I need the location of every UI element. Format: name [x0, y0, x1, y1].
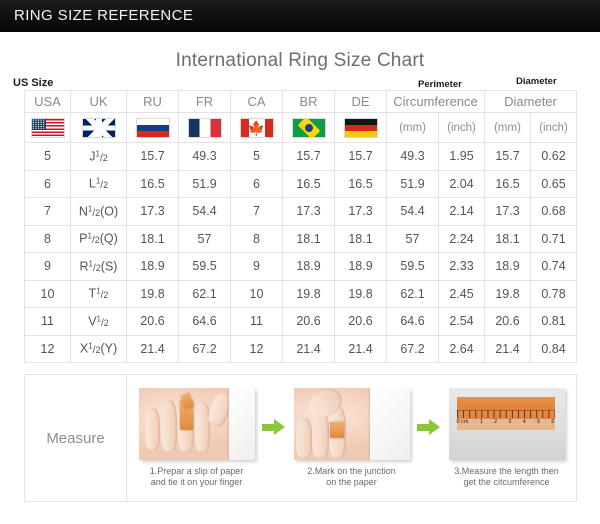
perimeter-label: Perimeter [418, 79, 462, 90]
cell-ru: 18.9 [127, 253, 179, 281]
column-header-cmm: Circumference [387, 91, 485, 113]
cell-cmm: 62.1 [387, 280, 439, 308]
cell-cin: 2.24 [439, 225, 485, 253]
top-banner: RING SIZE REFERENCE [0, 0, 600, 32]
cell-ru: 18.1 [127, 225, 179, 253]
table-row: 11V1/220.664.61120.620.664.62.5420.60.81 [25, 308, 577, 336]
flag-cell-de [335, 113, 387, 143]
cell-din: 0.65 [531, 170, 577, 198]
cell-din: 0.71 [531, 225, 577, 253]
cell-usa: 6 [25, 170, 71, 198]
table-row: 7N1/2(O)17.354.4717.317.354.42.1417.30.6… [25, 198, 577, 226]
step-1-photo [139, 388, 255, 460]
flag-cell-ca: 🍁 [231, 113, 283, 143]
cell-dmm: 16.5 [485, 170, 531, 198]
page-title: International Ring Size Chart [0, 50, 600, 72]
step-3-photo: 0 cm123456 [449, 388, 565, 460]
cell-cmm: 49.3 [387, 143, 439, 171]
cell-ru: 19.8 [127, 280, 179, 308]
cell-cin: 2.54 [439, 308, 485, 336]
ring-size-reference-page: RING SIZE REFERENCE International Ring S… [0, 0, 600, 524]
measure-step-3: 0 cm123456 3.Measure the length then get… [443, 388, 571, 489]
cell-din: 0.68 [531, 198, 577, 226]
table-row: 12X1/2(Y)21.467.21221.421.467.22.6421.40… [25, 335, 577, 363]
cell-br: 17.3 [283, 198, 335, 226]
cell-fr: 59.5 [179, 253, 231, 281]
cell-cmm: 59.5 [387, 253, 439, 281]
ruler-mark: 1 [480, 419, 483, 425]
ruler-scale: 0 cm123456 [457, 419, 555, 425]
cell-br: 21.4 [283, 335, 335, 363]
column-header-de: DE [335, 91, 387, 113]
cell-cmm: 67.2 [387, 335, 439, 363]
measure-steps: 1.Prepar a slip of paper and tie it on y… [127, 375, 576, 501]
unit-cell-din: (inch) [531, 113, 577, 143]
cell-dmm: 19.8 [485, 280, 531, 308]
cell-usa: 12 [25, 335, 71, 363]
cell-de: 18.1 [335, 225, 387, 253]
ruler-mark: 0 cm [457, 419, 469, 425]
cell-br: 19.8 [283, 280, 335, 308]
cell-ru: 21.4 [127, 335, 179, 363]
cell-cmm: 54.4 [387, 198, 439, 226]
unit-cell-dmm: (mm) [485, 113, 531, 143]
flag-cell-br [283, 113, 335, 143]
cell-ca: 9 [231, 253, 283, 281]
flag-cell-uk [71, 113, 127, 143]
cell-cmm: 64.6 [387, 308, 439, 336]
cell-de: 16.5 [335, 170, 387, 198]
cell-ca: 12 [231, 335, 283, 363]
step-3-caption: 3.Measure the length then get the citcum… [454, 466, 559, 489]
table-header-row: USAUKRUFRCABRDECircumferenceDiameter [25, 91, 577, 113]
usa-flag-icon [31, 118, 65, 138]
cell-de: 20.6 [335, 308, 387, 336]
fr-flag-icon [188, 118, 222, 138]
cell-ca: 11 [231, 308, 283, 336]
diameter-label: Diameter [516, 76, 557, 87]
cell-de: 18.9 [335, 253, 387, 281]
cell-din: 0.78 [531, 280, 577, 308]
cell-cin: 2.33 [439, 253, 485, 281]
cell-din: 0.62 [531, 143, 577, 171]
cell-dmm: 20.6 [485, 308, 531, 336]
cell-uk: P1/2(Q) [71, 225, 127, 253]
measure-steps-cell: 1.Prepar a slip of paper and tie it on y… [127, 375, 577, 502]
ruler-mark: 6 [551, 419, 554, 425]
measure-panel: Measure [24, 374, 576, 502]
cell-uk: X1/2(Y) [71, 335, 127, 363]
cell-cin: 2.04 [439, 170, 485, 198]
ruler-mark: 5 [537, 419, 540, 425]
cell-usa: 7 [25, 198, 71, 226]
unit-cell-cin: (inch) [439, 113, 485, 143]
cell-usa: 9 [25, 253, 71, 281]
cell-din: 0.81 [531, 308, 577, 336]
flag-cell-ru [127, 113, 179, 143]
cell-din: 0.74 [531, 253, 577, 281]
column-header-uk: UK [71, 91, 127, 113]
cell-de: 19.8 [335, 280, 387, 308]
table-row: 5J1/215.749.3515.715.749.31.9515.70.62 [25, 143, 577, 171]
de-flag-icon [344, 118, 378, 138]
cell-fr: 64.6 [179, 308, 231, 336]
column-header-fr: FR [179, 91, 231, 113]
cell-din: 0.84 [531, 335, 577, 363]
column-header-ca: CA [231, 91, 283, 113]
column-header-ru: RU [127, 91, 179, 113]
cell-uk: L1/2 [71, 170, 127, 198]
measure-label-cell: Measure [25, 375, 127, 502]
size-table-wrap: USAUKRUFRCABRDECircumferenceDiameter🍁(mm… [24, 90, 576, 363]
measure-table: Measure [24, 374, 577, 502]
cell-usa: 5 [25, 143, 71, 171]
cell-uk: N1/2(O) [71, 198, 127, 226]
cell-dmm: 21.4 [485, 335, 531, 363]
cell-usa: 10 [25, 280, 71, 308]
table-row: 6L1/216.551.9616.516.551.92.0416.50.65 [25, 170, 577, 198]
cell-dmm: 15.7 [485, 143, 531, 171]
cell-fr: 57 [179, 225, 231, 253]
uk-flag-icon [82, 118, 116, 138]
ru-flag-icon [136, 118, 170, 138]
cell-dmm: 17.3 [485, 198, 531, 226]
column-header-br: BR [283, 91, 335, 113]
cell-usa: 8 [25, 225, 71, 253]
table-flag-row: 🍁(mm)(inch)(mm)(inch) [25, 113, 577, 143]
cell-ru: 17.3 [127, 198, 179, 226]
flag-cell-usa [25, 113, 71, 143]
cell-de: 21.4 [335, 335, 387, 363]
cell-ru: 15.7 [127, 143, 179, 171]
cell-br: 18.9 [283, 253, 335, 281]
banner-title: RING SIZE REFERENCE [14, 7, 193, 24]
cell-ca: 10 [231, 280, 283, 308]
unit-cell-cmm: (mm) [387, 113, 439, 143]
cell-cmm: 51.9 [387, 170, 439, 198]
measure-step-1: 1.Prepar a slip of paper and tie it on y… [133, 388, 261, 489]
cell-uk: R1/2(S) [71, 253, 127, 281]
cell-ca: 7 [231, 198, 283, 226]
cell-br: 18.1 [283, 225, 335, 253]
cell-uk: V1/2 [71, 308, 127, 336]
step-2-photo [294, 388, 410, 460]
cell-usa: 11 [25, 308, 71, 336]
cell-de: 17.3 [335, 198, 387, 226]
cell-cin: 2.45 [439, 280, 485, 308]
br-flag-icon [292, 118, 326, 138]
cell-dmm: 18.9 [485, 253, 531, 281]
cell-br: 15.7 [283, 143, 335, 171]
cell-cmm: 57 [387, 225, 439, 253]
cell-cin: 2.14 [439, 198, 485, 226]
measure-step-2: 2.Mark on the junction on the paper [288, 388, 416, 489]
cell-fr: 62.1 [179, 280, 231, 308]
step-2-caption: 2.Mark on the junction on the paper [307, 466, 396, 489]
cell-de: 15.7 [335, 143, 387, 171]
cell-fr: 67.2 [179, 335, 231, 363]
cell-br: 16.5 [283, 170, 335, 198]
cell-uk: T1/2 [71, 280, 127, 308]
ruler-mark: 2 [494, 419, 497, 425]
cell-ca: 8 [231, 225, 283, 253]
cell-ca: 6 [231, 170, 283, 198]
cell-ru: 20.6 [127, 308, 179, 336]
cell-br: 20.6 [283, 308, 335, 336]
ruler-mark: 4 [523, 419, 526, 425]
cell-ca: 5 [231, 143, 283, 171]
cell-fr: 49.3 [179, 143, 231, 171]
arrow-right-icon-1 [262, 419, 286, 435]
ca-flag-icon: 🍁 [240, 118, 274, 138]
table-row: 10T1/219.862.11019.819.862.12.4519.80.78 [25, 280, 577, 308]
column-header-usa: USA [25, 91, 71, 113]
ring-size-table: USAUKRUFRCABRDECircumferenceDiameter🍁(mm… [24, 90, 577, 363]
cell-cin: 2.64 [439, 335, 485, 363]
column-header-dmm: Diameter [485, 91, 577, 113]
arrow-right-icon-2 [417, 419, 441, 435]
cell-fr: 51.9 [179, 170, 231, 198]
table-row: 8P1/2(Q)18.157818.118.1572.2418.10.71 [25, 225, 577, 253]
flag-cell-fr [179, 113, 231, 143]
cell-fr: 54.4 [179, 198, 231, 226]
cell-dmm: 18.1 [485, 225, 531, 253]
cell-cin: 1.95 [439, 143, 485, 171]
table-row: 9R1/2(S)18.959.5918.918.959.52.3318.90.7… [25, 253, 577, 281]
us-size-label: US Size [13, 77, 53, 89]
ruler-mark: 3 [508, 419, 511, 425]
step-1-caption: 1.Prepar a slip of paper and tie it on y… [150, 466, 244, 489]
cell-uk: J1/2 [71, 143, 127, 171]
cell-ru: 16.5 [127, 170, 179, 198]
